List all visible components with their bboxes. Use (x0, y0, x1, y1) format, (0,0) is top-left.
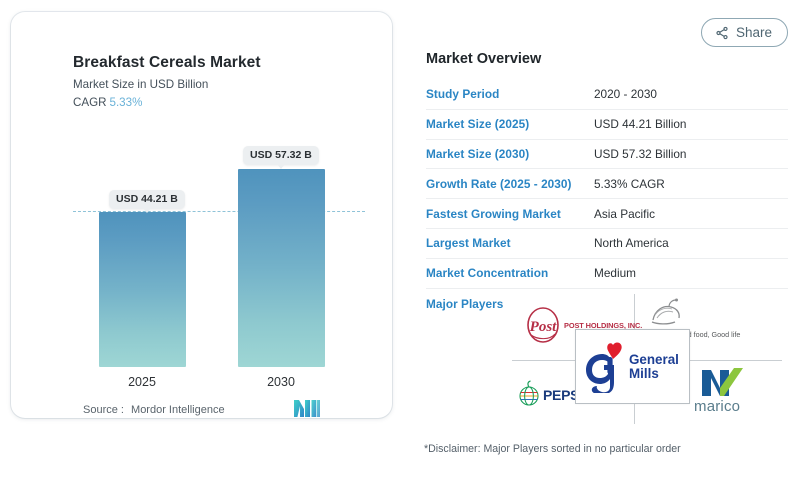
general-mills-wordmark-line2: Mills (629, 367, 679, 381)
row-label: Market Concentration (426, 266, 594, 280)
table-row: Market Concentration Medium (426, 259, 788, 289)
player-logo-marico: marico (690, 366, 782, 424)
row-value: 5.33% CAGR (594, 177, 665, 191)
bar-value-label-2025: USD 44.21 B (109, 190, 185, 209)
row-label: Market Size (2030) (426, 147, 594, 161)
chart-card: Breakfast Cereals Market Market Size in … (11, 12, 392, 418)
x-axis-label-2030: 2030 (231, 375, 331, 389)
market-overview-title: Market Overview (426, 51, 541, 67)
row-value: Asia Pacific (594, 207, 655, 221)
general-mills-g-icon (583, 341, 627, 393)
marico-wordmark: marico (694, 398, 740, 415)
row-value: 2020 - 2030 (594, 87, 657, 101)
bar-chart-plot: USD 44.21 B USD 57.32 B 2025 2030 (11, 12, 392, 418)
row-label: Largest Market (426, 236, 594, 250)
table-row: Growth Rate (2025 - 2030) 5.33% CAGR (426, 169, 788, 199)
svg-text:Post: Post (530, 319, 558, 335)
row-value: USD 44.21 Billion (594, 117, 686, 131)
row-value: Medium (594, 266, 636, 280)
marico-m-icon (698, 366, 750, 398)
general-mills-wordmark-line1: General (629, 353, 679, 367)
pepsico-globe-icon (518, 380, 540, 410)
share-button-label: Share (736, 25, 772, 40)
bar-2025[interactable] (99, 212, 186, 367)
disclaimer-text: *Disclaimer: Major Players sorted in no … (424, 443, 681, 455)
market-overview-table: Study Period 2020 - 2030 Market Size (20… (426, 80, 788, 319)
infographic-root: Share Breakfast Cereals Market Market Si… (0, 0, 800, 482)
source-line: Source : Mordor Intelligence (83, 404, 225, 416)
nestle-nest-icon (649, 298, 683, 328)
source-label: Source : (83, 404, 124, 416)
x-axis-label-2025: 2025 (92, 375, 192, 389)
row-label: Fastest Growing Market (426, 207, 594, 221)
share-nodes-icon (715, 26, 729, 40)
row-label: Market Size (2025) (426, 117, 594, 131)
table-row: Fastest Growing Market Asia Pacific (426, 199, 788, 229)
row-value: USD 57.32 Billion (594, 147, 686, 161)
bar-value-label-2030: USD 57.32 B (243, 146, 319, 165)
row-value: North America (594, 236, 669, 250)
table-row: Market Size (2030) USD 57.32 Billion (426, 140, 788, 170)
general-mills-wordmark: General Mills (629, 353, 679, 380)
mordor-intelligence-logo-icon (294, 400, 320, 422)
table-row: Market Size (2025) USD 44.21 Billion (426, 110, 788, 140)
share-button[interactable]: Share (701, 18, 788, 47)
bar-2030[interactable] (238, 169, 325, 367)
row-label: Study Period (426, 87, 594, 101)
source-name: Mordor Intelligence (131, 404, 225, 416)
player-logo-general-mills: General Mills (575, 329, 690, 404)
table-row: Study Period 2020 - 2030 (426, 80, 788, 110)
major-players-logo-grid: Post POST HOLDINGS, INC. Nestle (512, 292, 782, 424)
row-label: Growth Rate (2025 - 2030) (426, 177, 594, 191)
table-row: Largest Market North America (426, 229, 788, 259)
post-logo-icon: Post (526, 306, 560, 344)
